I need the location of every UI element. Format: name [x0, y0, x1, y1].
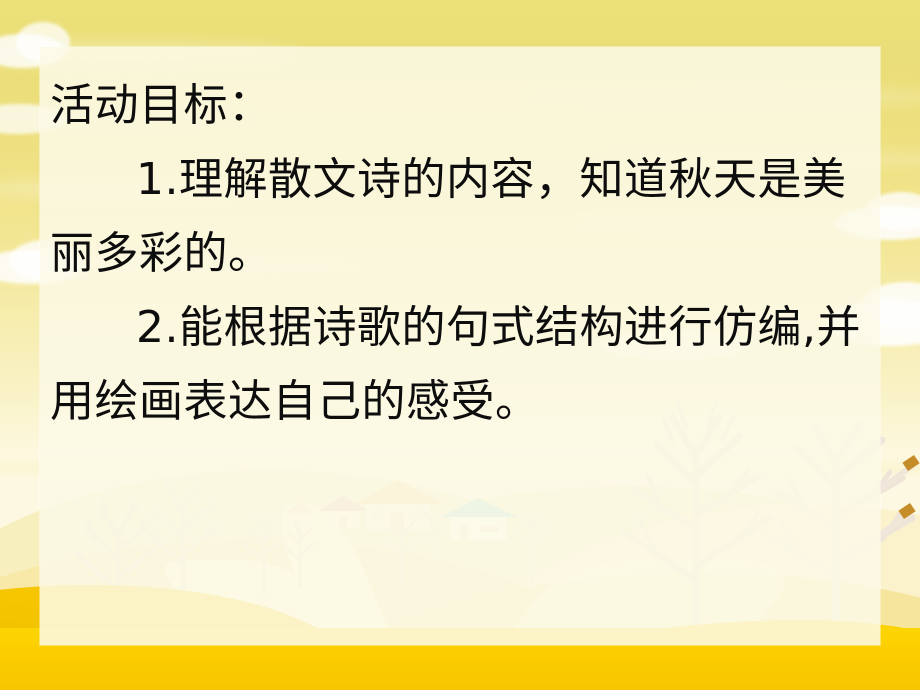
objectives-text-block: 活动目标： 1.理解散文诗的内容，知道秋天是美 丽多彩的。 2.能根据诗歌的句式… — [50, 69, 870, 439]
page-title: 活动目标： — [50, 69, 870, 143]
content-card: 活动目标： 1.理解散文诗的内容，知道秋天是美 丽多彩的。 2.能根据诗歌的句式… — [40, 47, 880, 645]
content-card-inner: 活动目标： 1.理解散文诗的内容，知道秋天是美 丽多彩的。 2.能根据诗歌的句式… — [40, 47, 880, 645]
objective-1-line-1: 1.理解散文诗的内容，知道秋天是美 — [50, 143, 870, 217]
objective-2-line-2: 用绘画表达自己的感受。 — [50, 365, 870, 439]
slide-canvas: 活动目标： 1.理解散文诗的内容，知道秋天是美 丽多彩的。 2.能根据诗歌的句式… — [0, 0, 920, 690]
objective-2-line-1: 2.能根据诗歌的句式结构进行仿编,并 — [50, 291, 870, 365]
objective-1-line-2: 丽多彩的。 — [50, 217, 870, 291]
objective-1-line-1-text: 1.理解散文诗的内容，知道秋天是美 — [136, 154, 846, 205]
objective-2-line-1-text: 2.能根据诗歌的句式结构进行仿编,并 — [136, 302, 861, 353]
